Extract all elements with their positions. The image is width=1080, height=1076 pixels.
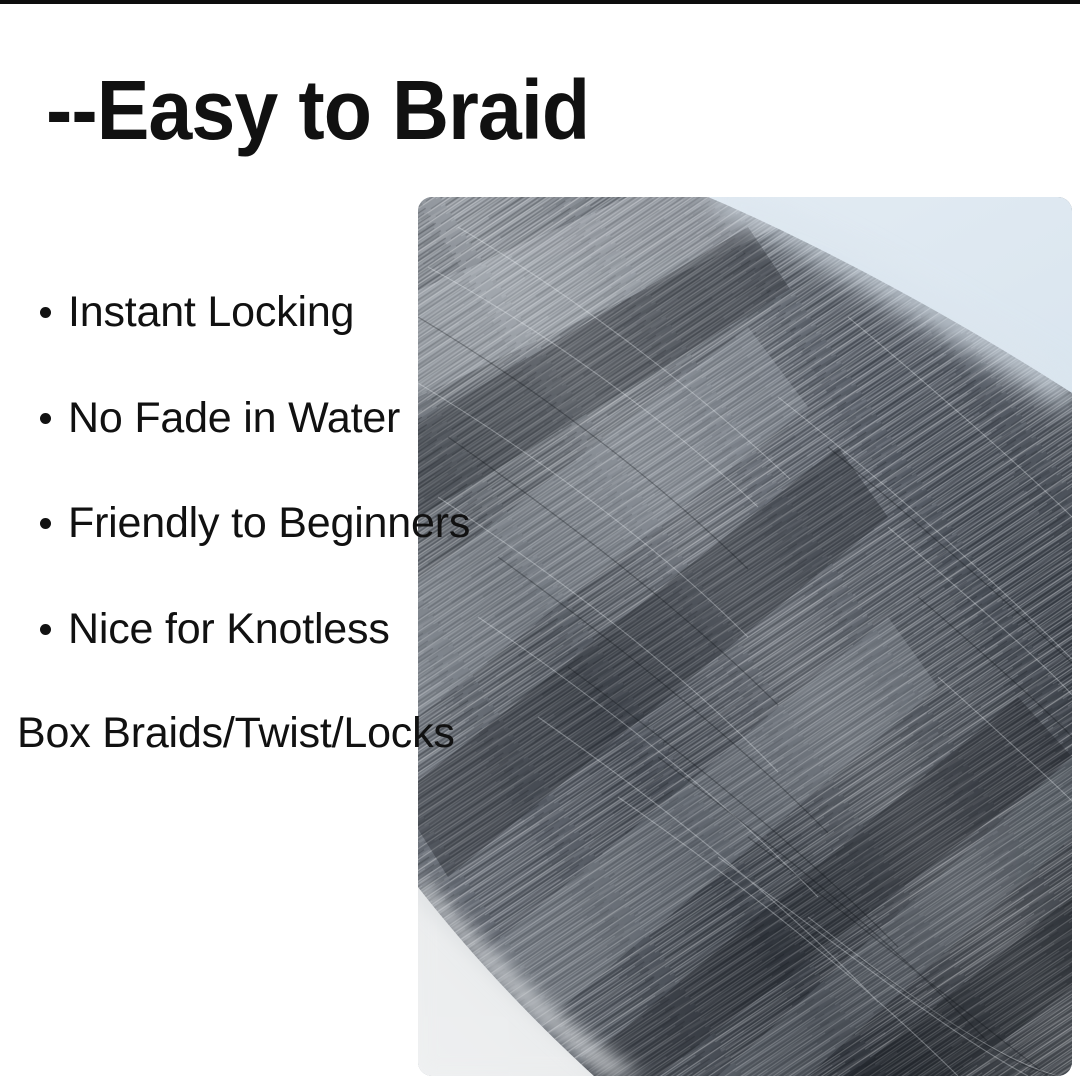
list-item: Instant Locking bbox=[40, 291, 354, 334]
bullet-icon bbox=[40, 624, 51, 635]
bullet-icon bbox=[40, 413, 51, 424]
caption-text: Box Braids/Twist/Locks bbox=[17, 712, 455, 755]
top-edge-rule bbox=[0, 0, 1080, 4]
feature-label: No Fade in Water bbox=[68, 397, 400, 440]
feature-label: Friendly to Beginners bbox=[68, 502, 470, 545]
list-item: Friendly to Beginners bbox=[40, 502, 470, 545]
list-item: No Fade in Water bbox=[40, 397, 400, 440]
product-feature-graphic: --Easy to Braid Instant Locking No Fade … bbox=[0, 0, 1080, 1076]
feature-label: Instant Locking bbox=[68, 291, 354, 334]
braiding-hair-texture-photo bbox=[418, 197, 1072, 1076]
page-title: --Easy to Braid bbox=[46, 68, 704, 152]
bullet-icon bbox=[40, 307, 51, 318]
hair-photo-illustration bbox=[418, 197, 1072, 1076]
bullet-icon bbox=[40, 518, 51, 529]
feature-label: Nice for Knotless bbox=[68, 608, 390, 651]
list-item: Nice for Knotless bbox=[40, 608, 390, 651]
